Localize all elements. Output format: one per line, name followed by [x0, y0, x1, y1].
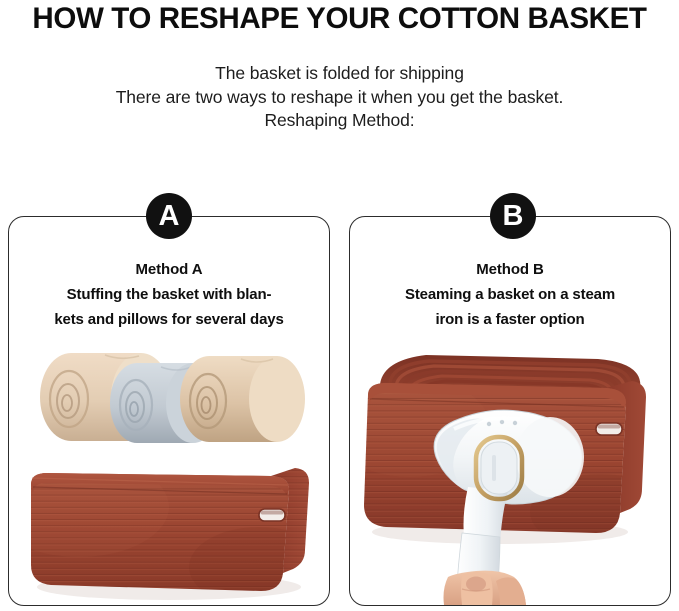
infographic-page: HOW TO RESHAPE YOUR COTTON BASKET The ba…: [0, 0, 679, 611]
page-title: HOW TO RESHAPE YOUR COTTON BASKET: [5, 2, 674, 36]
method-a-text: Method A Stuffing the basket with blan- …: [15, 257, 323, 332]
method-b-name: Method B: [356, 257, 664, 282]
method-card-b: Method B Steaming a basket on a steam ir…: [349, 216, 671, 606]
basket-handle-cutout: [596, 423, 622, 435]
method-a-name: Method A: [15, 257, 323, 282]
rolled-blankets: [40, 353, 305, 443]
subtitle-block: The basket is folded for shipping There …: [0, 62, 679, 133]
subtitle-line-2: There are two ways to reshape it when yo…: [0, 86, 679, 110]
basket-handle-cutout: [259, 509, 285, 521]
method-card-a: Method A Stuffing the basket with blan- …: [8, 216, 330, 606]
subtitle-line-3: Reshaping Method:: [0, 109, 679, 133]
method-a-desc-line-1: Stuffing the basket with blan-: [15, 282, 323, 307]
basket-with-blankets-illustration: [9, 337, 329, 605]
badge-method-b: B: [490, 193, 536, 239]
basket-with-steamer-illustration: [350, 337, 670, 605]
method-a-desc-line-2: kets and pillows for several days: [15, 307, 323, 332]
badge-method-a: A: [146, 193, 192, 239]
method-b-desc-line-2: iron is a faster option: [356, 307, 664, 332]
method-b-text: Method B Steaming a basket on a steam ir…: [356, 257, 664, 332]
hand-gripping-steamer: [444, 571, 527, 605]
subtitle-line-1: The basket is folded for shipping: [0, 62, 679, 86]
method-b-desc-line-1: Steaming a basket on a steam: [356, 282, 664, 307]
